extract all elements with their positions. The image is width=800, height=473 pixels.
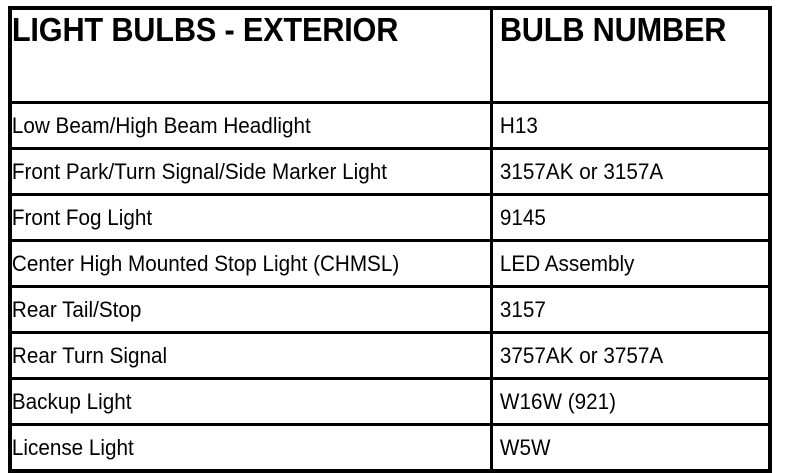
cell-light-name: Center High Mounted Stop Light (CHMSL)	[10, 240, 462, 286]
table-row: Rear Tail/Stop 3157	[10, 286, 770, 332]
column-header-light-bulbs-exterior: LIGHT BULBS - EXTERIOR	[10, 8, 457, 102]
table-row: Backup Light W16W (921)	[10, 378, 770, 424]
table-row: Front Fog Light 9145	[10, 194, 770, 240]
cell-light-name: Backup Light	[10, 378, 462, 424]
cell-bulb-number: 3157	[491, 286, 753, 332]
cell-bulb-number: H13	[491, 102, 753, 148]
table-row: Center High Mounted Stop Light (CHMSL) L…	[10, 240, 770, 286]
column-header-bulb-number: BULB NUMBER	[491, 8, 750, 102]
cell-light-name: License Light	[10, 424, 462, 471]
cell-light-name: Rear Turn Signal	[10, 332, 462, 378]
table-row: Rear Turn Signal 3757AK or 3757A	[10, 332, 770, 378]
table-header: LIGHT BULBS - EXTERIOR BULB NUMBER	[10, 8, 770, 102]
table-row: Low Beam/High Beam Headlight H13	[10, 102, 770, 148]
page-root: LIGHT BULBS - EXTERIOR BULB NUMBER Low B…	[0, 0, 800, 454]
table-row: License Light W5W	[10, 424, 770, 471]
cell-bulb-number: LED Assembly	[491, 240, 753, 286]
table-row: Front Park/Turn Signal/Side Marker Light…	[10, 148, 770, 194]
cell-bulb-number: 3157AK or 3157A	[491, 148, 753, 194]
table-header-row: LIGHT BULBS - EXTERIOR BULB NUMBER	[10, 8, 770, 102]
cell-bulb-number: W16W (921)	[491, 378, 753, 424]
cell-light-name: Front Fog Light	[10, 194, 462, 240]
cell-light-name: Low Beam/High Beam Headlight	[10, 102, 462, 148]
exterior-light-bulbs-table: LIGHT BULBS - EXTERIOR BULB NUMBER Low B…	[8, 6, 772, 473]
cell-bulb-number: W5W	[491, 424, 753, 471]
cell-light-name: Rear Tail/Stop	[10, 286, 462, 332]
table-body: Low Beam/High Beam Headlight H13 Front P…	[10, 102, 770, 471]
cell-light-name: Front Park/Turn Signal/Side Marker Light	[10, 148, 462, 194]
cell-bulb-number: 3757AK or 3757A	[491, 332, 753, 378]
cell-bulb-number: 9145	[491, 194, 753, 240]
